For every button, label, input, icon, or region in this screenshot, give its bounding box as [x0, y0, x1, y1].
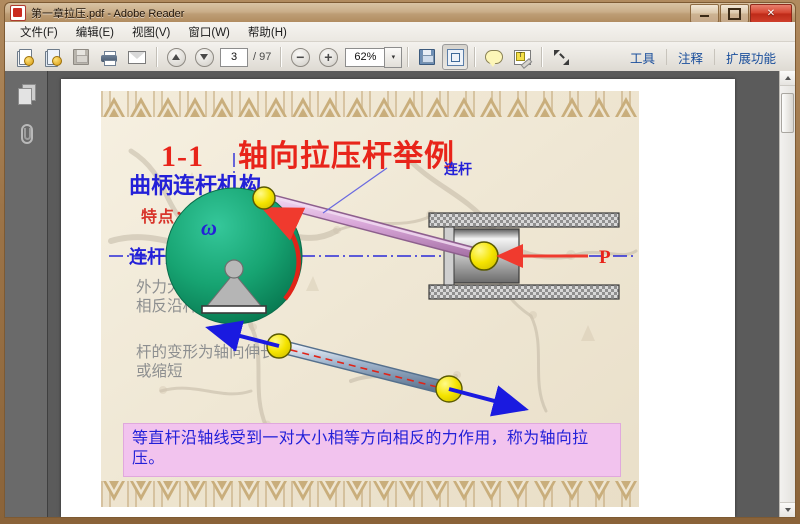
previous-page-button[interactable]: [163, 44, 189, 70]
pdf-icon: [10, 5, 26, 21]
zoom-out-button[interactable]: −: [287, 44, 313, 70]
toolbar-separator: [280, 47, 281, 67]
save-button[interactable]: [68, 44, 94, 70]
zoom-in-button[interactable]: +: [315, 44, 341, 70]
application-window: 文件(F) 编辑(E) 视图(V) 窗口(W) 帮助(H): [4, 22, 796, 518]
navigation-pane: [5, 71, 48, 517]
document-viewer: 1-1轴向拉压杆举例 曲柄连杆机构 连杆 特点： 连杆为直杆 外力大小相等方向相…: [5, 71, 795, 517]
comment-link[interactable]: 注释: [667, 48, 714, 67]
page-thumbnails-button[interactable]: [13, 80, 39, 106]
create-pdf-icon: [16, 48, 34, 66]
zoom-in-icon: +: [319, 48, 338, 67]
close-button[interactable]: ✕: [750, 4, 792, 23]
extended-features-link[interactable]: 扩展功能: [715, 48, 787, 67]
minimize-icon: [700, 15, 709, 17]
scroll-up-button[interactable]: [780, 71, 795, 86]
fit-width-button[interactable]: [414, 44, 440, 70]
zoom-out-icon: −: [291, 48, 310, 67]
fit-page-icon: [447, 49, 464, 66]
create-pdf-button[interactable]: [12, 44, 38, 70]
toolbar-separator: [156, 47, 157, 67]
menu-view[interactable]: 视图(V): [123, 22, 179, 42]
chevron-up-icon: [785, 76, 791, 80]
page-thumbnails-icon: [18, 84, 35, 103]
force-p-label: P: [599, 247, 611, 268]
page-number-input[interactable]: 3: [220, 48, 248, 67]
chevron-down-icon: [785, 508, 791, 512]
scrollbar-thumb[interactable]: [781, 93, 794, 133]
close-icon: ✕: [767, 8, 775, 19]
sticky-note-icon: [485, 50, 503, 64]
triangle-pattern-bottom: [101, 481, 639, 507]
window-controls: ✕: [690, 4, 792, 23]
window-title: 第一章拉压.pdf - Adobe Reader: [31, 5, 184, 21]
menu-file[interactable]: 文件(F): [11, 22, 67, 42]
text-edit-icon: T: [514, 50, 531, 65]
window-titlebar[interactable]: 第一章拉压.pdf - Adobe Reader ✕: [4, 2, 796, 23]
toolbar-separator: [474, 47, 475, 67]
attachments-paperclip-icon: [18, 123, 34, 143]
previous-page-icon: [167, 48, 186, 67]
add-sticky-note-button[interactable]: [481, 44, 507, 70]
toolbar-right-links: 工具 注释 扩展功能: [619, 42, 787, 72]
menu-window[interactable]: 窗口(W): [179, 22, 239, 42]
email-icon: [128, 51, 146, 64]
toolbar-separator: [541, 47, 542, 67]
combine-files-icon: [44, 48, 62, 66]
zoom-dropdown-button[interactable]: ▾: [384, 47, 402, 68]
crank-slider-diagram: ω P: [101, 151, 639, 451]
page-total-label: / 97: [253, 51, 271, 63]
maximize-button[interactable]: [720, 4, 749, 23]
definition-callout: 等直杆沿轴线受到一对大小相等方向相反的力作用，称为轴向拉压。: [123, 423, 621, 477]
print-button[interactable]: [96, 44, 122, 70]
omega-label: ω: [201, 215, 217, 240]
desktop-background: 第一章拉压.pdf - Adobe Reader ✕ 文件(F) 编辑(E) 视…: [0, 0, 800, 524]
vertical-scrollbar[interactable]: [779, 71, 795, 517]
email-button[interactable]: [124, 44, 150, 70]
save-icon: [73, 49, 89, 65]
pdf-page[interactable]: 1-1轴向拉压杆举例 曲柄连杆机构 连杆 特点： 连杆为直杆 外力大小相等方向相…: [61, 79, 735, 517]
slide-content: 1-1轴向拉压杆举例 曲柄连杆机构 连杆 特点： 连杆为直杆 外力大小相等方向相…: [101, 91, 639, 507]
read-mode-icon: [554, 50, 569, 65]
slide-bottom-border: [101, 481, 639, 507]
minimize-button[interactable]: [690, 4, 719, 23]
chevron-down-icon: ▾: [392, 53, 396, 61]
menu-bar: 文件(F) 编辑(E) 视图(V) 窗口(W) 帮助(H): [5, 22, 795, 42]
highlight-text-button[interactable]: T: [509, 44, 535, 70]
combine-files-button[interactable]: [40, 44, 66, 70]
toolbar-separator: [407, 47, 408, 67]
fit-page-button[interactable]: [442, 44, 468, 70]
slide-top-border: [101, 91, 639, 117]
scroll-down-button[interactable]: [780, 502, 795, 517]
zoom-level-input[interactable]: 62%: [345, 48, 384, 67]
triangle-pattern-top: [101, 91, 639, 117]
attachments-button[interactable]: [13, 120, 39, 146]
tools-link[interactable]: 工具: [619, 48, 666, 67]
menu-help[interactable]: 帮助(H): [239, 22, 296, 42]
next-page-icon: [195, 48, 214, 67]
main-toolbar: 3 / 97 − + 62% ▾: [5, 42, 795, 73]
print-icon: [101, 51, 117, 64]
read-mode-button[interactable]: [548, 44, 574, 70]
menu-edit[interactable]: 编辑(E): [67, 22, 123, 42]
fit-width-icon: [419, 49, 435, 65]
maximize-icon: [728, 8, 741, 20]
next-page-button[interactable]: [191, 44, 217, 70]
